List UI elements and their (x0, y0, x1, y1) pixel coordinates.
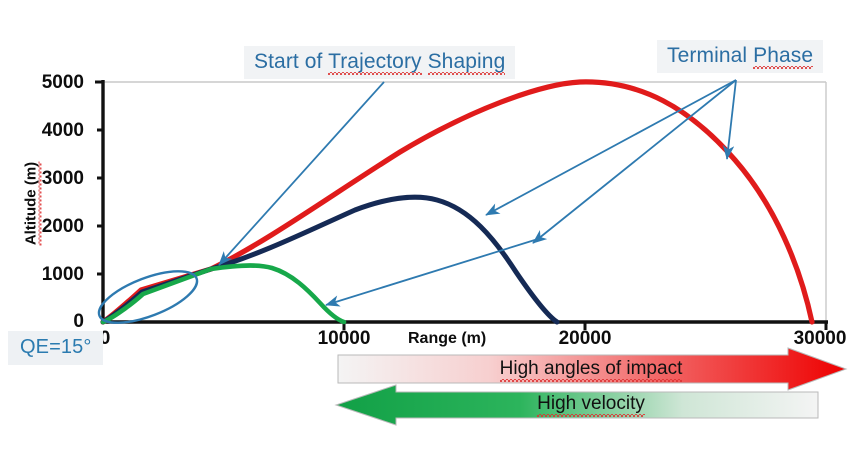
callout-start-of-trajectory-shaping: Start of Trajectory Shaping (244, 46, 515, 79)
x-tick-label-20000: 20000 (540, 328, 630, 350)
callout-terminal-pre: Terminal (667, 44, 753, 67)
callout-terminal-word-phase: Phase (753, 44, 813, 67)
callout-start-pre: Start of (254, 50, 328, 73)
x-tick-label-30000: 30000 (775, 328, 850, 350)
callout-quadrant-elevation: QE=15° (8, 331, 103, 365)
bar-velocity-text: High velocity (537, 393, 645, 415)
chart-canvas: 5000 4000 3000 2000 1000 0 0 10000 20000… (0, 0, 850, 456)
callout-start-word-trajectory: Trajectory (328, 50, 422, 73)
callout-terminal-phase: Terminal Phase (657, 40, 823, 73)
callout-start-mid (422, 50, 428, 73)
bar-impact-text: High angles of impact (500, 358, 683, 380)
bar-label-high-velocity: High velocity (336, 387, 846, 421)
y-axis-title-text: Altitude (m) (23, 162, 40, 245)
x-tick-label-10000: 10000 (299, 328, 389, 350)
y-tick-label-5000: 5000 (22, 72, 84, 94)
callout-start-word-shaping: Shaping (428, 50, 506, 73)
bar-label-high-angles-of-impact: High angles of impact (336, 352, 846, 386)
trajectory-red-max-range (103, 82, 812, 322)
y-axis-title: Altitude (m) (23, 149, 40, 259)
start-of-trajectory-shaping-leaders (219, 82, 538, 305)
x-axis-title: Range (m) (408, 330, 486, 348)
terminal-phase-leaders (486, 80, 736, 243)
y-tick-label-1000: 1000 (22, 264, 84, 286)
y-tick-label-4000: 4000 (22, 120, 84, 142)
